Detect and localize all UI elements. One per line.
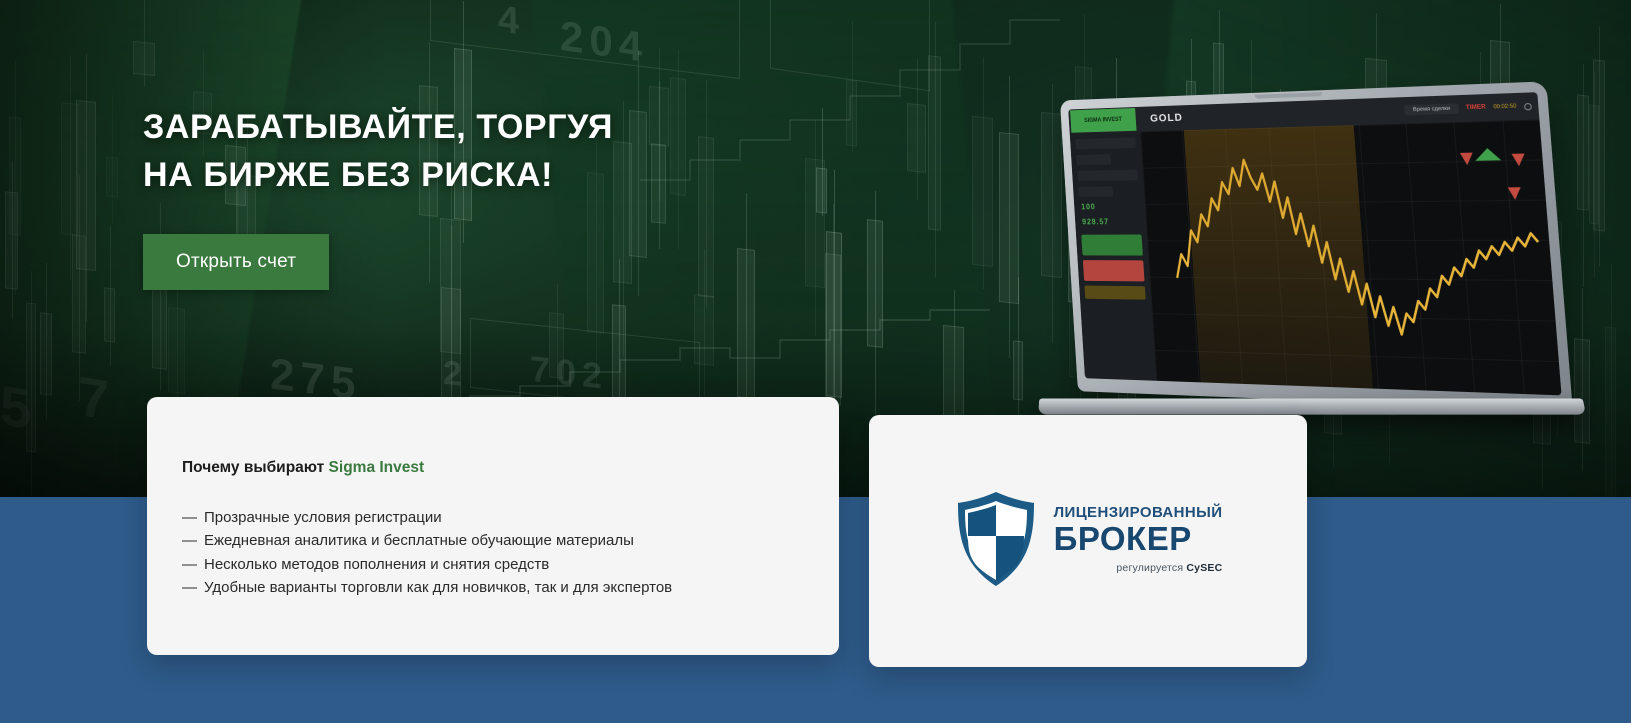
candle-wick <box>1018 277 1019 424</box>
headline-line-1: ЗАРАБАТЫВАЙТЕ, ТОРГУЯ <box>143 103 823 151</box>
card-title-prefix: Почему выбирают <box>182 459 324 476</box>
badge-line-broker: БРОКЕР <box>1054 522 1223 556</box>
sidebar-row[interactable] <box>1076 154 1111 165</box>
licensed-broker-badge: ЛИЦЕНЗИРОВАННЫЙ БРОКЕР регулируется CySE… <box>954 490 1223 588</box>
candle-wick <box>1599 27 1600 266</box>
badge-line-licensed: ЛИЦЕНЗИРОВАННЫЙ <box>1054 504 1223 521</box>
bg-number-4: 4 <box>498 0 525 45</box>
candle-wick <box>15 61 16 295</box>
candle-wick <box>144 0 145 87</box>
regulator-name: CySEC <box>1186 562 1222 574</box>
candle-wick <box>110 226 111 366</box>
trading-platform-screen: SIGMA INVEST GOLD Время сделки TIMER 00:… <box>1068 92 1561 395</box>
sidebar-row[interactable] <box>1077 170 1138 182</box>
benefit-item: —Несколько методов пополнения и снятия с… <box>182 553 839 576</box>
landing-page: 4 204 702 275 2 5 7 SIGMA INVEST <box>0 0 1631 723</box>
hero-copy: ЗАРАБАТЫВАЙТЕ, ТОРГУЯ НА БИРЖЕ БЕЗ РИСКА… <box>143 103 823 290</box>
benefit-list: —Прозрачные условия регистрации—Ежедневн… <box>182 506 839 600</box>
chart-highlight-band <box>1184 125 1373 388</box>
candle-wick <box>1582 288 1583 471</box>
candle-wick <box>112 95 113 224</box>
settings-gear-icon[interactable] <box>1524 102 1532 110</box>
platform-logo: SIGMA INVEST <box>1070 108 1137 133</box>
laptop-lid: SIGMA INVEST GOLD Время сделки TIMER 00:… <box>1060 81 1573 410</box>
platform-topbar-right: Время сделки TIMER 00:02:50 <box>1404 101 1538 116</box>
countdown-value: 00:02:50 <box>1493 103 1517 110</box>
benefit-text: Удобные варианты торговли как для новичк… <box>204 579 672 596</box>
laptop-camera-notch <box>1254 92 1322 99</box>
price-chart <box>1140 119 1561 395</box>
card-title: Почему выбирают Sigma Invest <box>182 459 839 477</box>
laptop-mockup: SIGMA INVEST GOLD Время сделки TIMER 00:… <box>1005 81 1575 440</box>
benefit-item: —Ежедневная аналитика и бесплатные обуча… <box>182 529 839 552</box>
sidebar-row[interactable] <box>1075 137 1136 149</box>
benefit-text: Ежедневная аналитика и бесплатные обучаю… <box>204 532 634 549</box>
bg-number-5: 5 <box>0 372 37 443</box>
extra-action-button[interactable] <box>1084 286 1145 300</box>
open-account-button[interactable]: Открыть счет <box>143 234 329 290</box>
candle-wick <box>1583 64 1584 287</box>
headline-line-2: НА БИРЖЕ БЕЗ РИСКА! <box>143 151 823 199</box>
why-choose-card: Почему выбирают Sigma Invest —Прозрачные… <box>147 397 839 655</box>
bullet-dash: — <box>182 556 197 573</box>
benefit-text: Прозрачные условия регистрации <box>204 509 442 526</box>
asset-label: GOLD <box>1150 112 1183 125</box>
bullet-dash: — <box>182 579 197 596</box>
sidebar-row[interactable] <box>1078 186 1113 197</box>
regulator-prefix: регулируется <box>1116 562 1186 574</box>
laptop-base <box>1038 399 1586 415</box>
shield-icon <box>954 490 1038 588</box>
brand-name: Sigma Invest <box>329 459 425 476</box>
trade-time-chip[interactable]: Время сделки <box>1404 103 1459 115</box>
candle-wick <box>70 55 71 279</box>
bullet-dash: — <box>182 509 197 526</box>
sell-down-button[interactable] <box>1083 260 1145 281</box>
buy-up-button[interactable] <box>1081 235 1143 256</box>
amount-value: 100 <box>1081 202 1140 211</box>
licensed-broker-card: ЛИЦЕНЗИРОВАННЫЙ БРОКЕР регулируется CySE… <box>869 415 1307 667</box>
badge-regulator-note: регулируется CySEC <box>1054 562 1223 574</box>
candle-wick <box>1611 264 1612 497</box>
benefit-item: —Удобные варианты торговли как для нович… <box>182 576 839 599</box>
candle-wick <box>1594 72 1595 278</box>
benefit-item: —Прозрачные условия регистрации <box>182 506 839 529</box>
platform-logo-label: SIGMA INVEST <box>1084 117 1122 124</box>
candle-wick <box>46 263 47 420</box>
bg-number-7: 7 <box>78 363 115 434</box>
chart-markers <box>1441 145 1544 230</box>
balance-value: 928.57 <box>1082 217 1141 226</box>
timer-status: TIMER <box>1466 104 1486 111</box>
candle-wick <box>86 54 87 323</box>
benefit-text: Несколько методов пополнения и снятия ср… <box>204 556 549 573</box>
badge-text: ЛИЦЕНЗИРОВАННЫЙ БРОКЕР регулируется CySE… <box>1054 504 1223 574</box>
bullet-dash: — <box>182 532 197 549</box>
